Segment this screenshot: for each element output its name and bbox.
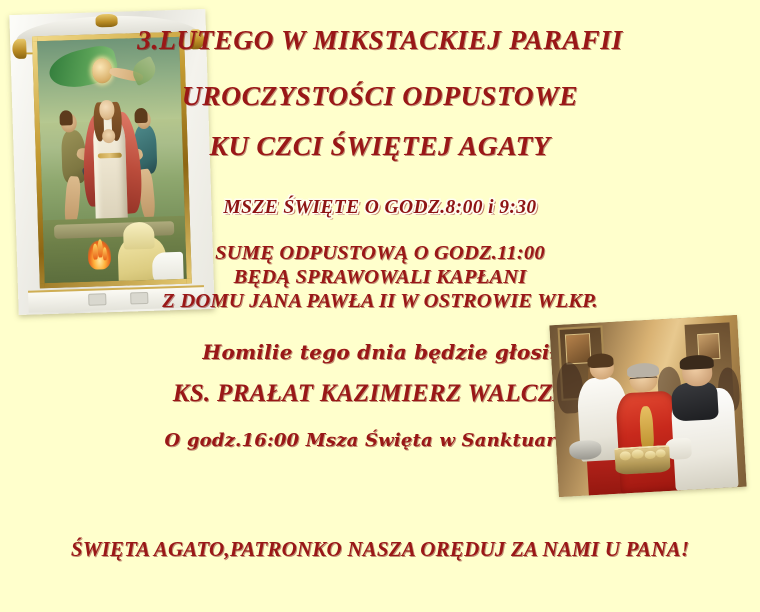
parish-procession-photo: [549, 315, 746, 497]
poster-canvas: 3.LUTEGO W MIKSTACKIEJ PARAFII UROCZYSTO…: [0, 0, 760, 612]
bread-basket-icon: [615, 444, 671, 475]
sum-line-3: Z DOMU JANA PAWŁA II W OSTROWIE WLKP.: [0, 290, 760, 313]
bread-piece-1: [619, 451, 630, 460]
headline-line-2: UROCZYSTOŚCI ODPUSTOWE: [0, 80, 760, 112]
headline-line-1: 3.LUTEGO W MIKSTACKIEJ PARAFII: [0, 24, 760, 56]
altar-server-right-scarf: [671, 382, 718, 422]
altar-server-left-hair: [587, 353, 614, 368]
morning-masses-line: MSZE ŚWIĘTE O GODZ.8:00 i 9:30: [0, 197, 760, 219]
headline-line-3: KU CZCI ŚWIĘTEJ AGATY: [0, 130, 760, 162]
photo-content: [549, 315, 746, 497]
bread-piece-4: [655, 449, 666, 458]
bread-piece-2: [631, 449, 643, 459]
executioner-left-hair: [59, 110, 72, 125]
bread-piece-3: [644, 450, 655, 459]
sum-line-2: BĘDĄ SPRAWOWALI KAPŁANI: [0, 266, 760, 289]
footer-prayer-line: ŚWIĘTA AGATO,PATRONKO NASZA ORĘDUJ ZA NA…: [0, 537, 760, 562]
sum-line-1: SUMĘ ODPUSTOWĄ O GODZ.11:00: [0, 242, 760, 265]
